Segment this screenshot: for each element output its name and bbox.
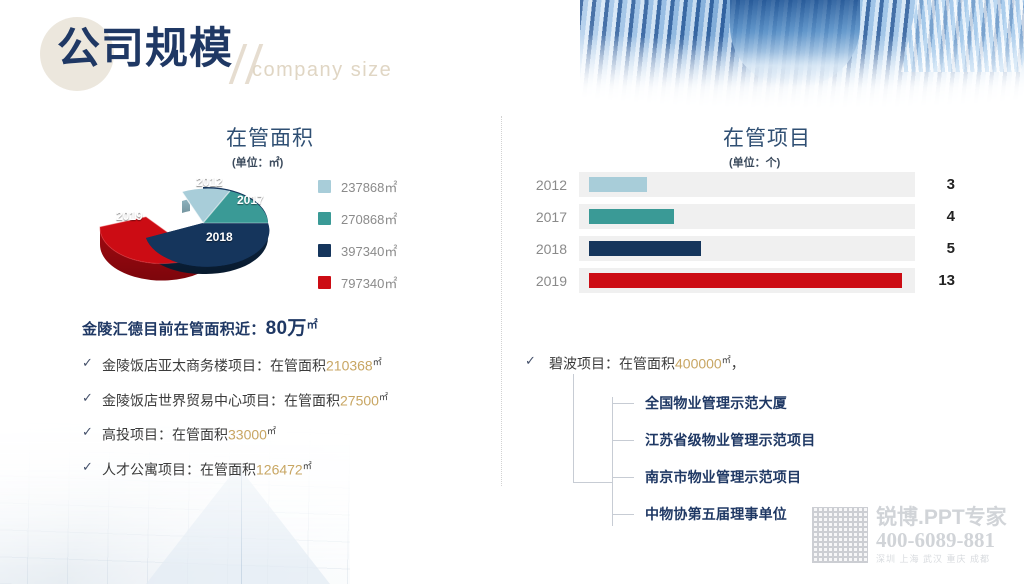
list-item: ✓金陵饭店亚太商务楼项目：在管面积210368㎡ (82, 354, 482, 375)
pie-slice-label-2017: 2017 (237, 193, 264, 207)
bar-value-label: 5 (915, 240, 955, 257)
right-bullet-unit: ㎡ (722, 355, 731, 365)
check-icon: ✓ (525, 352, 549, 369)
pie-slice-label-2012: 2012 (196, 175, 223, 189)
bar-fill (589, 273, 902, 288)
left-headline-unit: ㎡ (307, 319, 318, 331)
list-item: ✓金陵饭店世界贸易中心项目：在管面积27500㎡ (82, 389, 482, 410)
bar-category-label: 2017 (525, 209, 579, 225)
tree-item-label: 中物协第五届理事单位 (645, 505, 787, 523)
pie-legend-swatch (318, 244, 331, 257)
bar-category-label: 2012 (525, 177, 579, 193)
check-icon: ✓ (82, 423, 102, 440)
tree-spine-line (612, 397, 613, 526)
bar-chart-row: 20185 (525, 236, 955, 261)
pie-slice-label-2018: 2018 (206, 230, 233, 244)
bar-value-label: 3 (915, 176, 955, 193)
list-item-unit: ㎡ (303, 461, 312, 471)
list-item-unit: ㎡ (267, 426, 276, 436)
right-bullet-prefix: 碧波项目：在管面积 (549, 356, 675, 372)
list-item-unit: ㎡ (379, 392, 388, 402)
left-headline-prefix: 金陵汇德目前在管面积近： (82, 321, 266, 338)
list-item-prefix: 金陵饭店亚太商务楼项目：在管面积 (102, 358, 326, 374)
right-bullet-item: ✓ 碧波项目：在管面积400000㎡， (525, 352, 975, 373)
list-item-text: 高投项目：在管面积33000㎡ (102, 423, 276, 444)
bar-category-label: 2019 (525, 273, 579, 289)
bar-chart-row: 20123 (525, 172, 955, 197)
pie-legend-row: 397340㎡ (318, 235, 468, 266)
left-headline-value: 80万 (266, 318, 307, 339)
pie-legend-swatch (318, 180, 331, 193)
center-divider (501, 116, 502, 486)
bar-chart-title: 在管项目 (723, 122, 811, 152)
bar-chart-unit-label: (单位：个) (729, 154, 780, 170)
tree-branch-line (612, 440, 634, 441)
glass-pyramid-shape (146, 466, 330, 584)
bar-track (579, 172, 915, 197)
right-bullet-suffix: ， (731, 356, 745, 372)
bar-fill (589, 241, 701, 256)
list-item-text: 金陵饭店亚太商务楼项目：在管面积210368㎡ (102, 354, 382, 375)
bar-chart-row: 20174 (525, 204, 955, 229)
bar-fill (589, 177, 647, 192)
list-item-number: 210368 (326, 358, 373, 374)
pie-legend-row: 237868㎡ (318, 171, 468, 202)
pie-legend-swatch (318, 212, 331, 225)
watermark-cities: 深圳 上海 武汉 重庆 成都 (876, 555, 1007, 564)
pie-legend-label: 397340㎡ (341, 241, 397, 260)
right-detail-panel: ✓ 碧波项目：在管面积400000㎡， 全国物业管理示范大厦江苏省级物业管理示范… (525, 352, 975, 373)
bar-value-label: 13 (915, 272, 955, 289)
right-bullet-number: 400000 (675, 356, 722, 372)
bar-chart-row: 201913 (525, 268, 955, 293)
left-detail-panel: 金陵汇德目前在管面积近：80万㎡ ✓金陵饭店亚太商务楼项目：在管面积210368… (82, 313, 482, 479)
list-item-prefix: 高投项目：在管面积 (102, 427, 228, 443)
glass-pyramid-edge (241, 466, 242, 584)
pie-legend-row: 797340㎡ (318, 267, 468, 298)
tree-item-label: 全国物业管理示范大厦 (645, 394, 787, 412)
page-title: 公司规模 (57, 28, 233, 71)
pie-chart-svg (78, 165, 308, 295)
left-headline: 金陵汇德目前在管面积近：80万㎡ (82, 313, 482, 340)
check-icon: ✓ (82, 458, 102, 475)
list-item-number: 33000 (228, 427, 267, 443)
tree-item-label: 南京市物业管理示范项目 (645, 468, 801, 486)
bar-category-label: 2018 (525, 241, 579, 257)
tree-stem-foot-line (573, 482, 613, 483)
list-item: ✓高投项目：在管面积33000㎡ (82, 423, 482, 444)
check-icon: ✓ (82, 354, 102, 371)
bar-fill (589, 209, 674, 224)
tree-branch-line (612, 477, 634, 478)
right-bullet-text: 碧波项目：在管面积400000㎡， (549, 352, 745, 373)
page-subtitle: company size (252, 59, 392, 82)
tree-branch-line (612, 403, 634, 404)
bar-track (579, 236, 915, 261)
pie-legend-label: 797340㎡ (341, 273, 397, 292)
tree-item-label: 江苏省级物业管理示范项目 (645, 431, 815, 449)
list-item-number: 126472 (256, 462, 303, 478)
slide-header: 公司规模 company size (0, 0, 1024, 110)
left-bullet-list: ✓金陵饭店亚太商务楼项目：在管面积210368㎡✓金陵饭店世界贸易中心项目：在管… (82, 354, 482, 479)
pie-chart: 2012 2017 2018 2019 (78, 165, 308, 295)
list-item-text: 人才公寓项目：在管面积126472㎡ (102, 458, 312, 479)
tree-stem-line (573, 374, 574, 482)
pie-legend-swatch (318, 276, 331, 289)
tree-branch-line (612, 514, 634, 515)
pie-chart-title: 在管面积 (226, 122, 314, 152)
list-item-unit: ㎡ (373, 357, 382, 367)
list-item-prefix: 人才公寓项目：在管面积 (102, 462, 256, 478)
bar-value-label: 4 (915, 208, 955, 225)
pie-chart-legend: 237868㎡270868㎡397340㎡797340㎡ (318, 171, 468, 299)
list-item-prefix: 金陵饭店世界贸易中心项目：在管面积 (102, 392, 340, 408)
pie-legend-row: 270868㎡ (318, 203, 468, 234)
pie-legend-label: 237868㎡ (341, 177, 397, 196)
list-item: ✓人才公寓项目：在管面积126472㎡ (82, 458, 482, 479)
list-item-text: 金陵饭店世界贸易中心项目：在管面积27500㎡ (102, 389, 388, 410)
check-icon: ✓ (82, 389, 102, 406)
award-tree: 全国物业管理示范大厦江苏省级物业管理示范项目南京市物业管理示范项目中物协第五届理… (573, 374, 973, 534)
bar-chart: 201232017420185201913 (525, 172, 955, 300)
pie-slice-label-2019: 2019 (116, 209, 143, 223)
list-item-number: 27500 (340, 392, 379, 408)
bar-track (579, 268, 915, 293)
bar-track (579, 204, 915, 229)
pie-legend-label: 270868㎡ (341, 209, 397, 228)
